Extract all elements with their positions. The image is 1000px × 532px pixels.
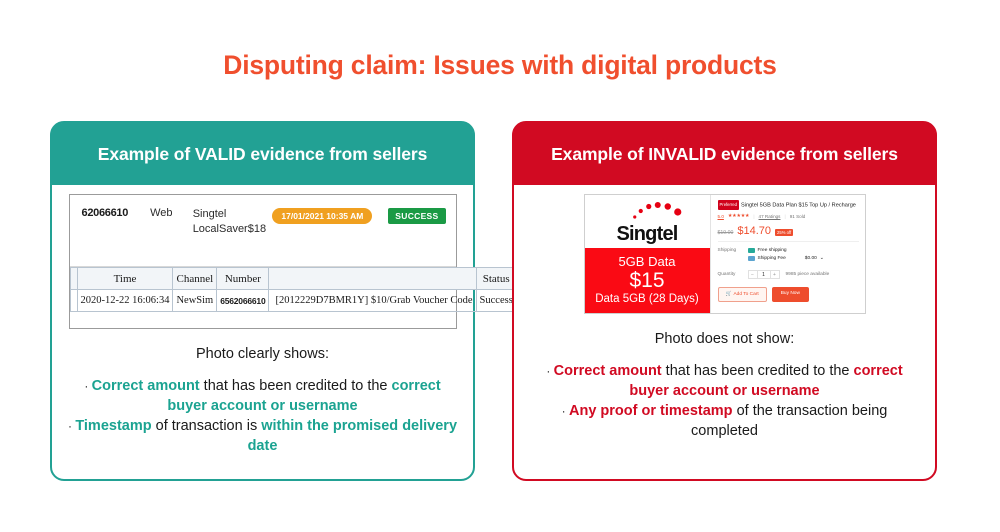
free-shipping-line: Free shipping	[748, 248, 824, 253]
bullet-item: · Correct amount that has been credited …	[66, 376, 459, 416]
td-desc: [2012229D7BMR1Y] $10/Grab Voucher Code	[269, 290, 476, 312]
invalid-card-body: Singtel 5GB Data $15 Data 5GB (28 Days) …	[514, 194, 935, 441]
td-blank	[70, 290, 77, 312]
bullet-dot-icon: ·	[84, 379, 91, 393]
bullet-item: · Timestamp of transaction is within the…	[66, 416, 459, 456]
shipping-fee-line: Shipping Fee $0.00 ⌄	[748, 256, 824, 261]
invalid-card-header: Example of INVALID evidence from sellers	[514, 123, 935, 185]
valid-bullet-list: · Correct amount that has been credited …	[66, 376, 459, 456]
sold-count: 91 Sold	[790, 214, 806, 219]
ratings-count: 47 Ratings	[759, 214, 781, 219]
singtel-dot-arc-icon	[631, 201, 689, 221]
td-time: 2020-12-22 16:06:34	[77, 290, 173, 312]
quantity-decrease-button[interactable]: −	[749, 271, 758, 279]
purchase-buttons: 🛒 Add To Cart Buy Now	[718, 287, 859, 302]
th-time: Time	[77, 268, 173, 290]
product-listing: Singtel 5GB Data $15 Data 5GB (28 Days) …	[585, 195, 865, 313]
invalid-bullet-list: · Correct amount that has been credited …	[528, 361, 921, 441]
table-header-row: Time Channel Number Status	[70, 268, 516, 290]
bullet-item: · Any proof or timestamp of the transact…	[528, 401, 921, 441]
stock-availability: 9985 piece available	[786, 272, 830, 277]
quantity-value[interactable]: 1	[758, 272, 770, 278]
page-title: Disputing claim: Issues with digital pro…	[0, 50, 1000, 81]
promo-overlay: 5GB Data $15 Data 5GB (28 Days)	[585, 248, 710, 313]
valid-evidence-card: Example of VALID evidence from sellers 6…	[50, 121, 475, 481]
rating-value: 5.0	[718, 214, 724, 219]
invalid-evidence-card: Example of INVALID evidence from sellers	[512, 121, 937, 481]
add-to-cart-label: Add To Cart	[733, 292, 758, 297]
bullet-dot-icon: ·	[546, 364, 553, 378]
bullet-text: of transaction is	[156, 418, 262, 434]
discount-badge: 25% off	[775, 229, 793, 236]
promo-line-1: 5GB Data	[585, 254, 710, 269]
shipping-fee-label: Shipping Fee	[758, 256, 786, 261]
bullet-dot-icon: ·	[562, 404, 569, 418]
free-shipping-text: Free shipping	[758, 248, 787, 253]
original-price: $19.00	[718, 230, 734, 236]
star-rating-icon: ★★★★★	[728, 213, 749, 219]
slide-root: Disputing claim: Issues with digital pro…	[0, 0, 1000, 532]
quantity-label: Quantity	[718, 272, 748, 277]
bullet-text: that has been credited to the	[666, 363, 854, 379]
table-row: 2020-12-22 16:06:34 NewSim 6562066610 [2…	[70, 290, 516, 312]
th-blank	[70, 268, 77, 290]
transaction-table: Time Channel Number Status 2020-12-22 16…	[70, 267, 517, 312]
singtel-wordmark: Singtel	[616, 223, 677, 246]
product-image-panel: Singtel 5GB Data $15 Data 5GB (28 Days)	[585, 195, 711, 313]
valid-evidence-screenshot: 62066610 Web Singtel LocalSaver$18 17/01…	[69, 194, 457, 329]
transaction-id: 62066610	[82, 207, 151, 219]
valid-card-body: 62066610 Web Singtel LocalSaver$18 17/01…	[52, 194, 473, 456]
shipping-label: Shipping	[718, 248, 748, 253]
transaction-summary-row: 62066610 Web Singtel LocalSaver$18 17/01…	[70, 195, 456, 267]
box-icon	[748, 256, 755, 261]
bullet-text: that has been credited to the	[204, 378, 392, 394]
bullet-item: · Correct amount that has been credited …	[528, 361, 921, 401]
th-number: Number	[217, 268, 269, 290]
rating-divider-1: |	[753, 214, 754, 219]
product-detail-panel: PreferredSingtel 5GB Data Plan $15 Top U…	[711, 195, 865, 313]
promo-line-2: $15	[585, 269, 710, 292]
th-channel: Channel	[173, 268, 217, 290]
bullet-emphasis: Correct amount	[554, 363, 666, 379]
singtel-logo: Singtel	[585, 195, 710, 248]
valid-caption: Photo clearly shows:	[66, 346, 459, 362]
shipping-row: Shipping Free shipping Shipping Fee $0.0…	[718, 248, 859, 264]
preferred-badge: Preferred	[718, 200, 739, 210]
quantity-row: Quantity − 1 + 9985 piece available	[718, 270, 859, 279]
td-number: 6562066610	[217, 290, 269, 312]
add-to-cart-button[interactable]: 🛒 Add To Cart	[718, 287, 767, 302]
quantity-stepper[interactable]: − 1 +	[748, 270, 780, 279]
chevron-down-icon[interactable]: ⌄	[820, 256, 824, 261]
transaction-date-badge: 17/01/2021 10:35 AM	[272, 208, 372, 224]
transaction-product: Singtel LocalSaver$18	[193, 207, 273, 237]
quantity-increase-button[interactable]: +	[770, 271, 779, 279]
invalid-evidence-screenshot: Singtel 5GB Data $15 Data 5GB (28 Days) …	[584, 194, 866, 314]
promo-line-3: Data 5GB (28 Days)	[585, 292, 710, 306]
buy-now-button[interactable]: Buy Now	[772, 287, 809, 302]
shipping-values: Free shipping Shipping Fee $0.00 ⌄	[748, 248, 824, 264]
rating-divider-2: |	[784, 214, 785, 219]
td-status: Success	[476, 290, 516, 312]
current-price: $14.70	[737, 225, 771, 237]
td-channel: NewSim	[173, 290, 217, 312]
bullet-emphasis: within the promised delivery date	[248, 418, 457, 454]
product-title-line: PreferredSingtel 5GB Data Plan $15 Top U…	[718, 200, 859, 210]
invalid-caption: Photo does not show:	[528, 331, 921, 347]
th-desc	[269, 268, 476, 290]
cart-icon: 🛒	[726, 292, 732, 297]
transaction-status-badge: SUCCESS	[388, 208, 445, 224]
th-status: Status	[476, 268, 516, 290]
price-row: $19.00 $14.70 25% off	[718, 225, 859, 242]
bullet-emphasis: Any proof or timestamp	[569, 403, 737, 419]
product-title: Singtel 5GB Data Plan $15 Top Up / Recha…	[741, 202, 856, 208]
bullet-emphasis: Correct amount	[92, 378, 204, 394]
rating-row: 5.0 ★★★★★ | 47 Ratings | 91 Sold	[718, 213, 859, 219]
bullet-emphasis: Timestamp	[75, 418, 155, 434]
truck-icon	[748, 248, 755, 253]
shipping-fee-value: $0.00	[805, 256, 817, 261]
valid-card-header: Example of VALID evidence from sellers	[52, 123, 473, 185]
transaction-channel: Web	[150, 207, 193, 219]
